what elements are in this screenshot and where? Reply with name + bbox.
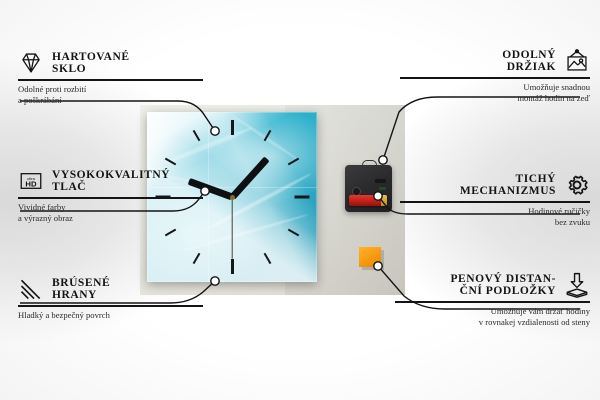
mechanism-slot xyxy=(375,179,386,183)
foam-spacer-pad xyxy=(359,247,381,267)
infographic-canvas: HARTOVANÉ SKLO Odolné proti rozbití a po… xyxy=(0,0,600,400)
feature-desc-line1: Odolné proti rozbití xyxy=(18,84,203,96)
feature-title-line2: TLAČ xyxy=(52,181,170,193)
feature-title-line1: TICHÝ xyxy=(516,173,556,185)
feature-callout-silent-mechanism: TICHÝ MECHANIZMUS Hodinové ručičky bez z… xyxy=(400,172,590,229)
feature-divider xyxy=(18,305,203,307)
feature-desc-line1: Umožňuje vám držať hodiny xyxy=(395,306,590,318)
feature-divider xyxy=(400,201,590,203)
feature-desc-line1: Hodinové ručičky xyxy=(400,206,590,218)
feature-title-line2: MECHANIZMUS xyxy=(460,185,556,197)
feature-desc-line1: Vividné farby xyxy=(18,202,203,214)
second-hand xyxy=(231,197,232,259)
feature-divider xyxy=(400,77,590,79)
feature-callout-hardened-glass: HARTOVANÉ SKLO Odolné proti rozbití a po… xyxy=(18,50,203,107)
feature-desc-line2: bez zvuku xyxy=(400,217,590,229)
feature-divider xyxy=(395,301,590,303)
feature-title-line2: ČNÍ PODLOŽKY xyxy=(460,285,556,297)
hour-tick xyxy=(231,120,234,135)
feature-callout-durable-hanger: ODOLNÝ DRŽIAK Umožňuje snadnou montáž ho… xyxy=(400,48,590,105)
foam-spacer-icon xyxy=(564,272,590,298)
mechanism-indicator xyxy=(379,187,386,190)
feature-callout-beveled-edges: BRÚSENÉ HRANY Hladký a bezpečný povrch xyxy=(18,276,203,321)
feature-title-line2: HRANY xyxy=(52,289,110,301)
battery xyxy=(349,195,387,206)
feature-title-line1: HARTOVANÉ xyxy=(52,51,130,63)
ultra-hd-icon: ultra HD xyxy=(18,168,44,194)
feature-desc-line2: a poškrábání xyxy=(18,95,203,107)
connector-line-4 xyxy=(383,97,580,160)
hour-tick xyxy=(294,196,309,199)
beveled-edge-icon xyxy=(18,276,44,302)
feature-description: Vividné farby a výrazný obraz xyxy=(18,202,203,226)
feature-description: Umožňuje snadnou montáž hodin na zeď xyxy=(400,82,590,106)
feature-title-line1: PENOVÝ DISTAN- xyxy=(450,273,556,285)
feature-description: Hladký a bezpečný povrch xyxy=(18,310,203,322)
hour-tick xyxy=(231,259,234,274)
feature-divider xyxy=(18,197,203,199)
feature-desc-line1: Umožňuje snadnou xyxy=(400,82,590,94)
gear-icon xyxy=(564,172,590,198)
clock-mechanism xyxy=(345,165,392,212)
feature-description: Hodinové ručičky bez zvuku xyxy=(400,206,590,230)
mechanism-hanger-lug xyxy=(362,160,377,169)
feature-callout-foam-spacers: PENOVÝ DISTAN- ČNÍ PODLOŽKY Umožňuje vám… xyxy=(395,272,590,329)
feature-desc-line2: v rovnakej vzdialenosti od steny xyxy=(395,317,590,329)
diamond-icon xyxy=(18,50,44,76)
glass-seam-vertical xyxy=(208,112,209,282)
feature-title-line1: ODOLNÝ xyxy=(502,49,556,61)
feature-callout-hq-print: ultra HD VYSOKOKVALITNÝ TLAČ Vividné far… xyxy=(18,168,203,225)
feature-title-line1: VYSOKOKVALITNÝ xyxy=(52,169,170,181)
ultra-hd-icon-large-label: HD xyxy=(25,179,37,188)
feature-title-line1: BRÚSENÉ xyxy=(52,277,110,289)
feature-description: Odolné proti rozbití a poškrábání xyxy=(18,84,203,108)
feature-desc-line1: Hladký a bezpečný povrch xyxy=(18,310,203,322)
feature-description: Umožňuje vám držať hodiny v rovnakej vzd… xyxy=(395,306,590,330)
feature-desc-line2: a výrazný obraz xyxy=(18,213,203,225)
battery-terminal xyxy=(381,195,387,206)
feature-title-line2: SKLO xyxy=(52,63,130,75)
feature-divider xyxy=(18,79,203,81)
feature-title-line2: DRŽIAK xyxy=(507,61,556,73)
clock-hub xyxy=(230,195,235,200)
picture-hanger-icon xyxy=(564,48,590,74)
feature-desc-line2: montáž hodin na zeď xyxy=(400,93,590,105)
